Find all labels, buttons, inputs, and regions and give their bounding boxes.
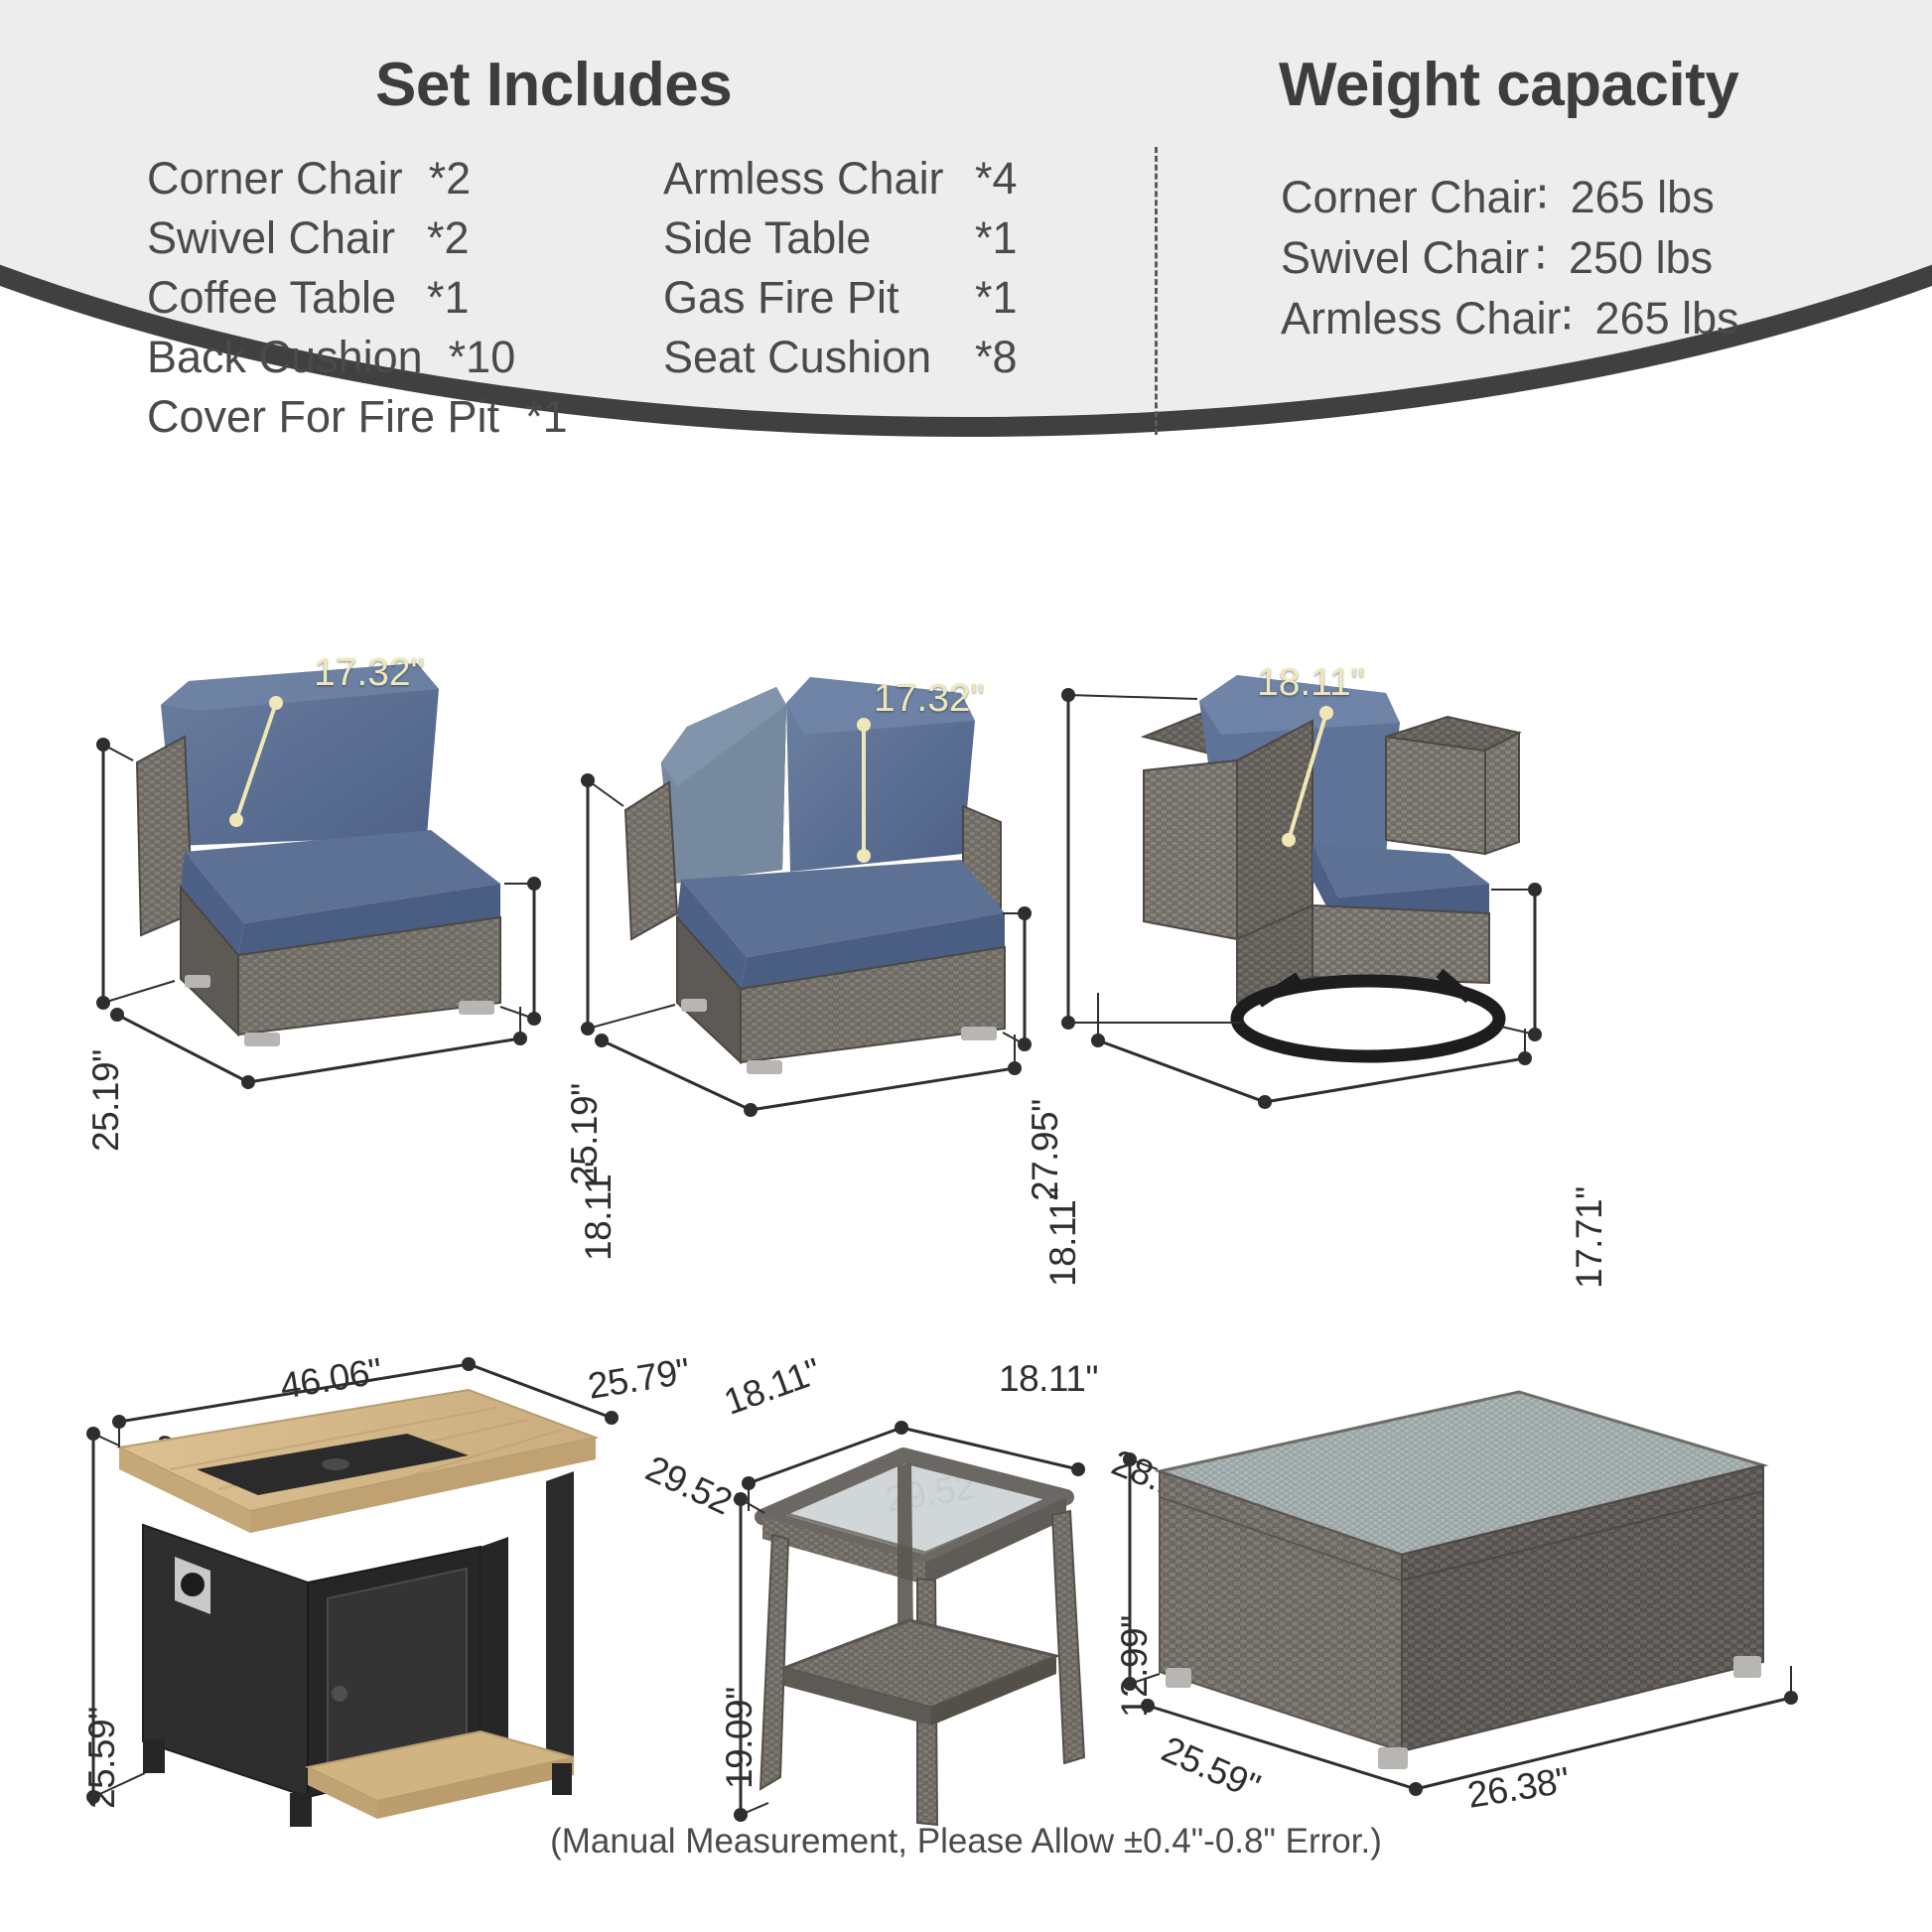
item-label: Swivel Chair: [1281, 227, 1535, 288]
list-item: Armless Chair *4: [663, 149, 1018, 208]
list-item: Gas Fire Pit *1: [663, 268, 1018, 328]
item-label: Swivel Chair: [147, 208, 401, 268]
item-value: 250 lbs: [1569, 227, 1713, 288]
item-value: 265 lbs: [1595, 288, 1739, 348]
item-label: Cover For Fire Pit: [147, 387, 499, 447]
product-diagrams: 17.32" 25.19" 18.11" 29.52" 25.59": [0, 467, 1932, 1932]
item-separator: ∶: [1535, 227, 1569, 288]
item-label: Back Cushion: [147, 328, 423, 387]
item-quantity: *2: [427, 208, 470, 268]
swivel-height-label: 27.95": [1025, 1099, 1066, 1201]
firepit-height-label: 25.59": [81, 1707, 123, 1809]
set-includes-column-right: Armless Chair *4 Side Table *1 Gas Fire …: [663, 149, 1018, 387]
item-quantity: *1: [975, 208, 1018, 268]
gas-fire-pit-diagram: [79, 1330, 635, 1886]
list-item: Corner Chair *2: [147, 149, 568, 208]
item-quantity: *4: [975, 149, 1018, 208]
set-includes-title: Set Includes: [375, 50, 732, 120]
item-separator: ∶: [1537, 167, 1571, 227]
item-label: Corner Chair: [147, 149, 403, 208]
item-separator: ∶: [1562, 288, 1595, 348]
weight-capacity-title: Weight capacity: [1279, 50, 1738, 120]
list-item: Back Cushion *10: [147, 328, 568, 387]
list-item: Coffee Table *1: [147, 268, 568, 328]
corner-chair-diagram: [566, 586, 1033, 1142]
swivel-cushion-depth-label: 18.11": [1257, 661, 1365, 705]
corner-cushion-depth-label: 17.32": [874, 677, 984, 721]
item-quantity: *8: [975, 328, 1018, 387]
item-quantity: *2: [429, 149, 472, 208]
list-item: Armless Chair ∶ 265 lbs: [1281, 288, 1739, 348]
sidetable-width-label: 18.11": [999, 1358, 1098, 1400]
item-label: Corner Chair: [1281, 167, 1537, 227]
header-column-divider: [1155, 147, 1158, 435]
armless-cushion-depth-label: 17.32": [314, 651, 424, 695]
list-item: Seat Cushion *8: [663, 328, 1018, 387]
side-table-diagram: [715, 1340, 1132, 1857]
weight-capacity-list: Corner Chair ∶ 265 lbs Swivel Chair ∶ 25…: [1281, 167, 1739, 348]
item-value: 265 lbs: [1571, 167, 1715, 227]
measurement-disclaimer: (Manual Measurement, Please Allow ±0.4"-…: [0, 1822, 1932, 1862]
list-item: Cover For Fire Pit *1: [147, 387, 568, 447]
armless-height-label: 25.19": [85, 1049, 127, 1152]
list-item: Corner Chair ∶ 265 lbs: [1281, 167, 1739, 227]
header-banner: Set Includes Weight capacity Corner Chai…: [0, 0, 1932, 467]
item-quantity: *1: [427, 268, 470, 328]
list-item: Swivel Chair ∶ 250 lbs: [1281, 227, 1739, 288]
item-label: Armless Chair: [1281, 288, 1562, 348]
coffeetable-height-label: 12.99": [1114, 1615, 1156, 1718]
list-item: Side Table *1: [663, 208, 1018, 268]
item-label: Armless Chair: [663, 149, 949, 208]
swivel-chair-diagram: [1052, 556, 1549, 1152]
item-quantity: *10: [449, 328, 516, 387]
swivel-seat-height-label: 17.71": [1569, 1186, 1610, 1289]
item-quantity: *1: [525, 387, 568, 447]
sidetable-height-label: 19.09": [719, 1687, 760, 1789]
set-includes-column-left: Corner Chair *2 Swivel Chair *2 Coffee T…: [147, 149, 568, 447]
corner-seat-height-label: 18.11": [1042, 1187, 1084, 1287]
item-quantity: *1: [975, 268, 1018, 328]
corner-height-label: 25.19": [564, 1083, 606, 1185]
item-label: Gas Fire Pit: [663, 268, 949, 328]
item-label: Seat Cushion: [663, 328, 949, 387]
list-item: Swivel Chair *2: [147, 208, 568, 268]
item-label: Side Table: [663, 208, 949, 268]
item-label: Coffee Table: [147, 268, 401, 328]
